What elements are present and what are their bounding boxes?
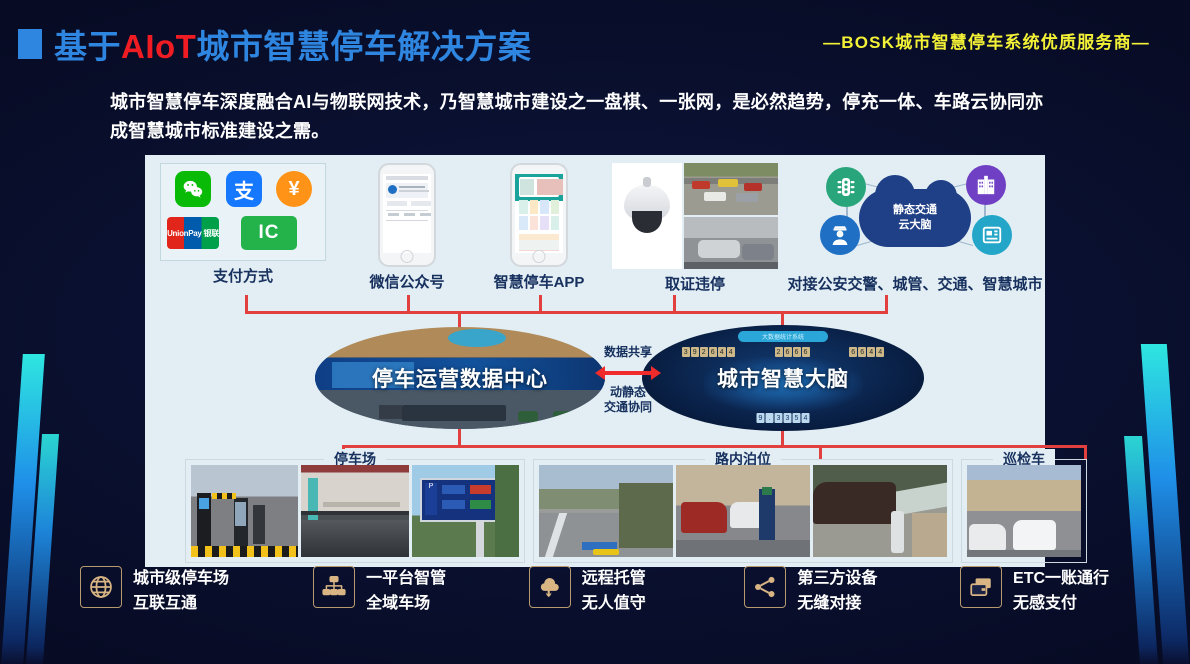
feature-0-line1: 城市级停车场 [133, 570, 229, 587]
title-bullet-icon [18, 29, 42, 59]
ic-card-icon: IC [241, 216, 297, 250]
wechat-pay-icon [175, 171, 211, 207]
feature-text-3: 第三方设备 无缝对接 [797, 566, 877, 616]
traffic-light-icon [826, 167, 866, 207]
parking-data-center-label: 停车运营数据中心 [372, 363, 548, 393]
dashboard-number-1: 392644 [682, 347, 735, 357]
coord-line1: 动静态 [610, 385, 646, 399]
group-parking-lot[interactable]: 停车场 P [185, 459, 525, 563]
cloud-brain-node: 静态交通 云大脑 [859, 189, 971, 247]
feature-text-1: 一平台智管 全域车场 [366, 566, 446, 616]
feature-3-line2: 无缝对接 [797, 595, 861, 612]
feature-text-0: 城市级停车场 互联互通 [133, 566, 229, 616]
title-prefix: 基于 [54, 28, 121, 65]
cloud-label-line1: 静态交通 [893, 204, 937, 216]
parking-data-center-node[interactable]: 停车运营数据中心 [315, 327, 605, 429]
dashboard-number-3: 6644 [849, 347, 884, 357]
alipay-icon: 支 [226, 171, 262, 207]
title-accent: AIoT [121, 28, 196, 65]
node-enforcement[interactable]: 取证违停 [605, 163, 785, 295]
parking-guidance-sign-photo: P [412, 465, 519, 557]
dashboard-numbers: 392644 2666 6644 [642, 347, 924, 357]
title-text: 基于AIoT城市智慧停车解决方案 [54, 20, 531, 68]
feature-item-2[interactable]: 远程托管 无人值守 [529, 566, 715, 650]
connector-v-app [539, 295, 542, 311]
dashboard-footer-number: 9.3354 [757, 413, 810, 423]
cloud-label-line2: 云大脑 [899, 219, 932, 231]
header: 基于AIoT城市智慧停车解决方案 —BOSK城市智慧停车系统优质服务商— [0, 0, 1190, 72]
feature-text-4: ETC一账通行 无感支付 [1013, 566, 1110, 616]
feature-strip: 城市级停车场 互联互通 一平台智管 全域车场 [80, 566, 1140, 650]
share-icon [744, 566, 786, 608]
node-label-payment: 支付方式 [213, 265, 273, 286]
road-parking-photo-2 [676, 465, 810, 557]
slide-root: 基于AIoT城市智慧停车解决方案 —BOSK城市智慧停车系统优质服务商— 城市智… [0, 0, 1190, 664]
connector-v-patrol [1084, 445, 1087, 459]
connector-v-wechat [407, 295, 410, 311]
data-sharing-label: 数据共享 [604, 343, 652, 360]
road-parking-photo-1 [539, 465, 673, 557]
building-icon [966, 165, 1006, 205]
city-brain-node[interactable]: 大数据统计系统 392644 2666 6644 9.3354 城市智慧大脑 [642, 325, 924, 431]
node-label-wechat: 微信公众号 [369, 271, 444, 292]
smartphone-app-icon [510, 163, 568, 267]
connector-v-payment [245, 295, 248, 311]
city-brain-label: 城市智慧大脑 [717, 363, 849, 393]
connector-v-from-right-ellipse [781, 431, 784, 445]
unionpay-icon: UnionPay 银联 [167, 217, 219, 249]
feature-1-line1: 一平台智管 [366, 570, 446, 587]
coord-line2: 交通协同 [604, 400, 652, 414]
node-label-enforcement: 取证违停 [665, 273, 725, 294]
feature-text-2: 远程托管 无人值守 [582, 566, 646, 616]
connector-h-bottom [342, 445, 1087, 448]
lede-paragraph: 城市智慧停车深度融合AI与物联网技术，乃智慧城市建设之一盘棋、一张网，是必然趋势… [110, 88, 1060, 146]
group-road-parking[interactable]: 路内泊位 [533, 459, 953, 563]
node-label-city-integration: 对接公安交警、城管、交通、智慧城市 [787, 273, 1042, 294]
feature-item-4[interactable]: ETC一账通行 无感支付 [960, 566, 1110, 650]
connector-v-road-parking [819, 445, 822, 459]
feature-4-line2: 无感支付 [1013, 591, 1110, 616]
sitemap-icon [313, 566, 355, 608]
feature-item-3[interactable]: 第三方设备 无缝对接 [744, 566, 930, 650]
group-patrol-car[interactable]: 巡检车 [961, 459, 1087, 563]
title-suffix: 城市智慧停车解决方案 [196, 28, 531, 65]
traffic-coordination-label: 动静态 交通协同 [604, 385, 652, 415]
smartphone-wechat-icon [378, 163, 436, 267]
dashboard-number-2: 2666 [775, 347, 810, 357]
brand-tagline: —BOSK城市智慧停车系统优质服务商— [823, 28, 1150, 53]
node-parking-app[interactable]: 智慧停车APP [473, 163, 605, 295]
node-wechat-official[interactable]: 微信公众号 [341, 163, 473, 295]
connector-v-cloud [885, 295, 888, 311]
node-city-integration[interactable]: 静态交通 云大脑 对接公安交警、城管、交通、智慧城市 [785, 163, 1045, 295]
connector-v-camera [673, 295, 676, 311]
parking-lot-photo-2 [301, 465, 408, 557]
node-label-app: 智慧停车APP [494, 271, 585, 292]
connector-h-top [245, 311, 888, 314]
parking-lot-photo-1 [191, 465, 298, 557]
feature-0-line2: 互联互通 [133, 595, 197, 612]
feature-item-1[interactable]: 一平台智管 全域车场 [313, 566, 499, 650]
feature-1-line2: 全域车场 [366, 595, 430, 612]
feature-3-line1: 第三方设备 [797, 570, 877, 587]
payment-icon-box: 支 ¥ UnionPay 银联 IC [160, 163, 326, 261]
road-parking-photo-3 [813, 465, 947, 557]
node-payment-methods[interactable]: 支 ¥ UnionPay 银联 IC 支付方式 [145, 163, 341, 295]
card-icon [960, 566, 1002, 608]
police-officer-icon [820, 215, 860, 255]
feature-4-line1: ETC一账通行 [1013, 570, 1109, 587]
diagram-panel: 支 ¥ UnionPay 银联 IC 支付方式 [145, 155, 1045, 567]
cloud-sync-icon [529, 566, 571, 608]
page-title: 基于AIoT城市智慧停车解决方案 [18, 20, 531, 68]
connector-v-from-left-ellipse [458, 429, 461, 445]
cloud-network-diagram: 静态交通 云大脑 [790, 163, 1040, 269]
ptz-camera-icon [612, 163, 682, 269]
diagram-top-row: 支 ¥ UnionPay 银联 IC 支付方式 [145, 163, 1045, 295]
street-photo [684, 163, 778, 269]
money-bag-icon: ¥ [276, 171, 312, 207]
patrol-car-photo [967, 465, 1081, 557]
globe-icon [80, 566, 122, 608]
feature-2-line2: 无人值守 [582, 595, 646, 612]
document-icon [972, 215, 1012, 255]
bidirectional-arrow-icon [595, 365, 661, 381]
feature-item-0[interactable]: 城市级停车场 互联互通 [80, 566, 283, 650]
data-sharing-annotation: 数据共享 动静态 交通协同 [607, 325, 649, 433]
feature-2-line1: 远程托管 [582, 570, 646, 587]
dashboard-title: 大数据统计系统 [738, 331, 828, 342]
